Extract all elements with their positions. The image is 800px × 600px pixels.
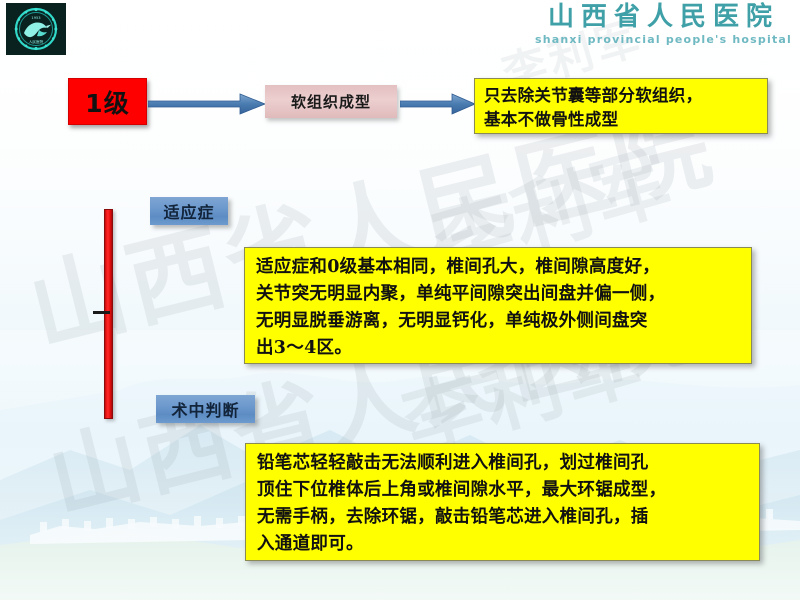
- procedure-label: 软组织成型: [291, 91, 371, 112]
- intraoperative-line-1: 铅笔芯轻轻敲击无法顺利进入椎间孔，划过椎间孔: [257, 450, 749, 477]
- indication-line-1: 适应症和0级基本相同，椎间孔大，椎间隙高度好，: [256, 254, 741, 281]
- hospital-logo: 1953 人民医院: [6, 3, 66, 55]
- grade-badge: 1级: [68, 78, 147, 125]
- grade-badge-label: 1级: [85, 84, 129, 120]
- indication-line-3: 无明显脱垂游离，无明显钙化，单纯极外侧间盘突: [256, 308, 741, 335]
- procedure-detail-line-1: 只去除关节囊等部分软组织，: [484, 84, 758, 108]
- hospital-name-cn: 山西省人民医院: [535, 4, 792, 30]
- section-label-intraoperative-text: 术中判断: [171, 397, 239, 421]
- indication-content-callout: 适应症和0级基本相同，椎间孔大，椎间隙高度好， 关节突无明显内聚，单纯平间隙突出…: [244, 247, 752, 364]
- section-label-indication: 适应症: [150, 197, 228, 225]
- hospital-brand: 山西省人民医院 shanxi provincial people's hospi…: [535, 4, 792, 45]
- procedure-detail-line-2: 基本不做骨性成型: [484, 108, 758, 132]
- indication-line-4: 出3～4区。: [256, 335, 741, 362]
- svg-text:人民医院: 人民医院: [29, 39, 44, 44]
- indication-line-2: 关节突无明显内聚，单纯平间隙突出间盘并偏一侧，: [256, 281, 741, 308]
- section-label-indication-text: 适应症: [163, 199, 214, 223]
- intraoperative-line-4: 入通道即可。: [257, 531, 749, 558]
- intraoperative-line-3: 无需手柄，去除环锯，敲击铅笔芯进入椎间孔，插: [257, 504, 749, 531]
- red-vertical-bar: [104, 209, 113, 419]
- section-label-intraoperative: 术中判断: [156, 395, 255, 423]
- svg-text:1953: 1953: [31, 16, 40, 20]
- dove-emblem-icon: 1953 人民医院: [13, 7, 59, 51]
- arrow-procedure-to-detail-icon: [400, 92, 476, 116]
- procedure-box: 软组织成型: [265, 85, 397, 118]
- procedure-detail-callout: 只去除关节囊等部分软组织， 基本不做骨性成型: [474, 78, 768, 134]
- intraoperative-line-2: 顶住下位椎体后上角或椎间隙水平，最大环锯成型，: [257, 477, 749, 504]
- arrow-grade-to-procedure-icon: [148, 92, 266, 116]
- red-bar-tick-mark: [93, 311, 110, 314]
- intraoperative-content-callout: 铅笔芯轻轻敲击无法顺利进入椎间孔，划过椎间孔 顶住下位椎体后上角或椎间隙水平，最…: [245, 443, 760, 561]
- presentation-slide: 山西省人民医院 山西省人民医院 李利军 李利军 李利军 1953 人民医院 山西…: [0, 0, 800, 600]
- hospital-name-en: shanxi provincial people's hospital: [535, 34, 792, 45]
